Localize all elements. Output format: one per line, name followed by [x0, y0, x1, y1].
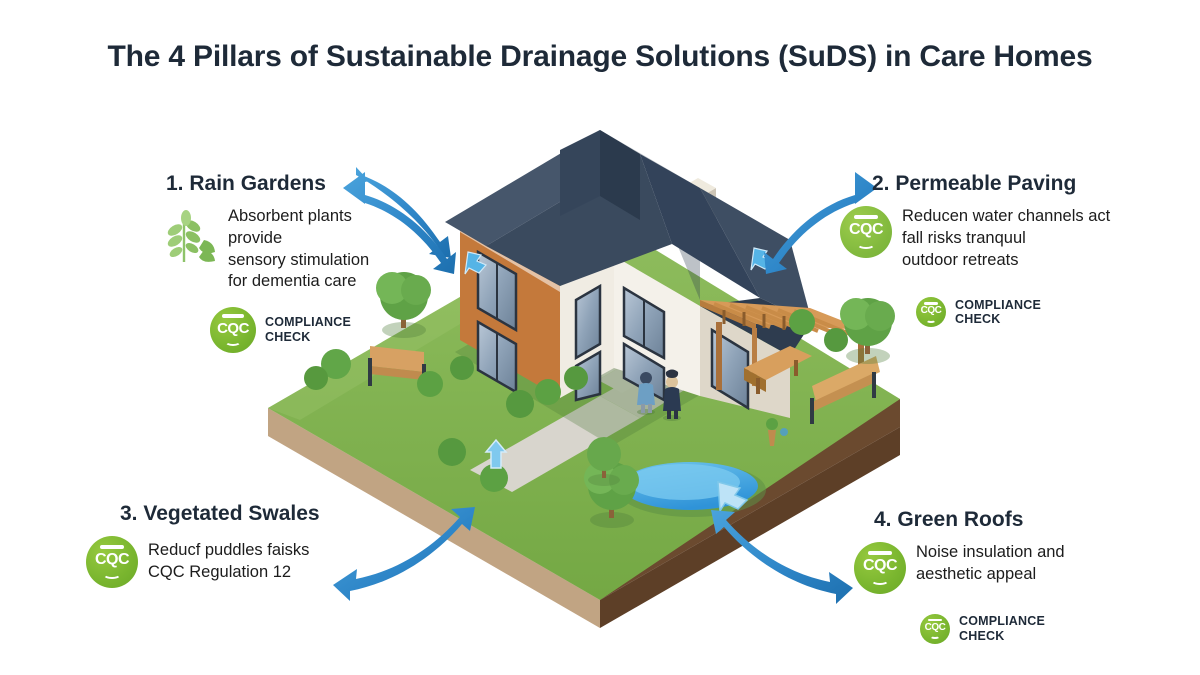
pillar-heading: 2. Permeable Paving: [872, 172, 1142, 196]
pillar-vegetated-swales[interactable]: 3. Vegetated Swales CQC Reducf puddles f…: [114, 502, 374, 588]
cqc-badge-icon: CQC: [86, 536, 138, 588]
pillar-heading: 3. Vegetated Swales: [120, 502, 374, 526]
pillar-green-roofs[interactable]: 4. Green Roofs CQC Noise insulation and …: [870, 508, 1130, 644]
compliance-check-badge[interactable]: CQC COMPLIANCE CHECK: [916, 297, 1142, 327]
cqc-badge-text: CQC: [95, 552, 129, 568]
compliance-check-label: COMPLIANCE CHECK: [265, 315, 351, 345]
cqc-badge-text: CQC: [921, 306, 942, 316]
pillar-description: Reducen water channels act fall risks tr…: [902, 206, 1110, 271]
infographic-canvas: The 4 Pillars of Sustainable Drainage So…: [0, 0, 1200, 675]
cqc-badge-icon: CQC: [854, 542, 906, 594]
cqc-badge-icon: CQC: [920, 614, 950, 644]
compliance-check-label: COMPLIANCE CHECK: [959, 614, 1045, 644]
pillar-heading: 1. Rain Gardens: [166, 172, 406, 196]
pillar-heading: 4. Green Roofs: [874, 508, 1130, 532]
cqc-badge-text: CQC: [925, 623, 946, 633]
cqc-badge-icon: CQC: [916, 297, 946, 327]
cqc-badge-text: CQC: [217, 321, 249, 336]
compliance-check-badge[interactable]: CQC COMPLIANCE CHECK: [920, 614, 1130, 644]
compliance-check-label: COMPLIANCE CHECK: [955, 298, 1041, 328]
cqc-badge-icon: CQC: [840, 206, 892, 258]
pillar-permeable-paving[interactable]: 2. Permeable Paving CQC Reducen water ch…: [872, 172, 1142, 327]
cqc-badge-icon: CQC: [210, 307, 256, 353]
pillar-description: Absorbent plants provide sensory stimula…: [228, 206, 406, 293]
cqc-badge-text: CQC: [863, 558, 897, 574]
pillar-description: Noise insulation and aesthetic appeal: [916, 542, 1065, 586]
pillar-description: Reducf puddles faisks CQC Regulation 12: [148, 540, 309, 584]
cqc-badge-text: CQC: [849, 222, 883, 238]
leaf-icon: [166, 206, 218, 264]
pillar-rain-gardens[interactable]: 1. Rain Gardens: [166, 172, 406, 353]
compliance-check-badge[interactable]: CQC COMPLIANCE CHECK: [210, 307, 406, 353]
